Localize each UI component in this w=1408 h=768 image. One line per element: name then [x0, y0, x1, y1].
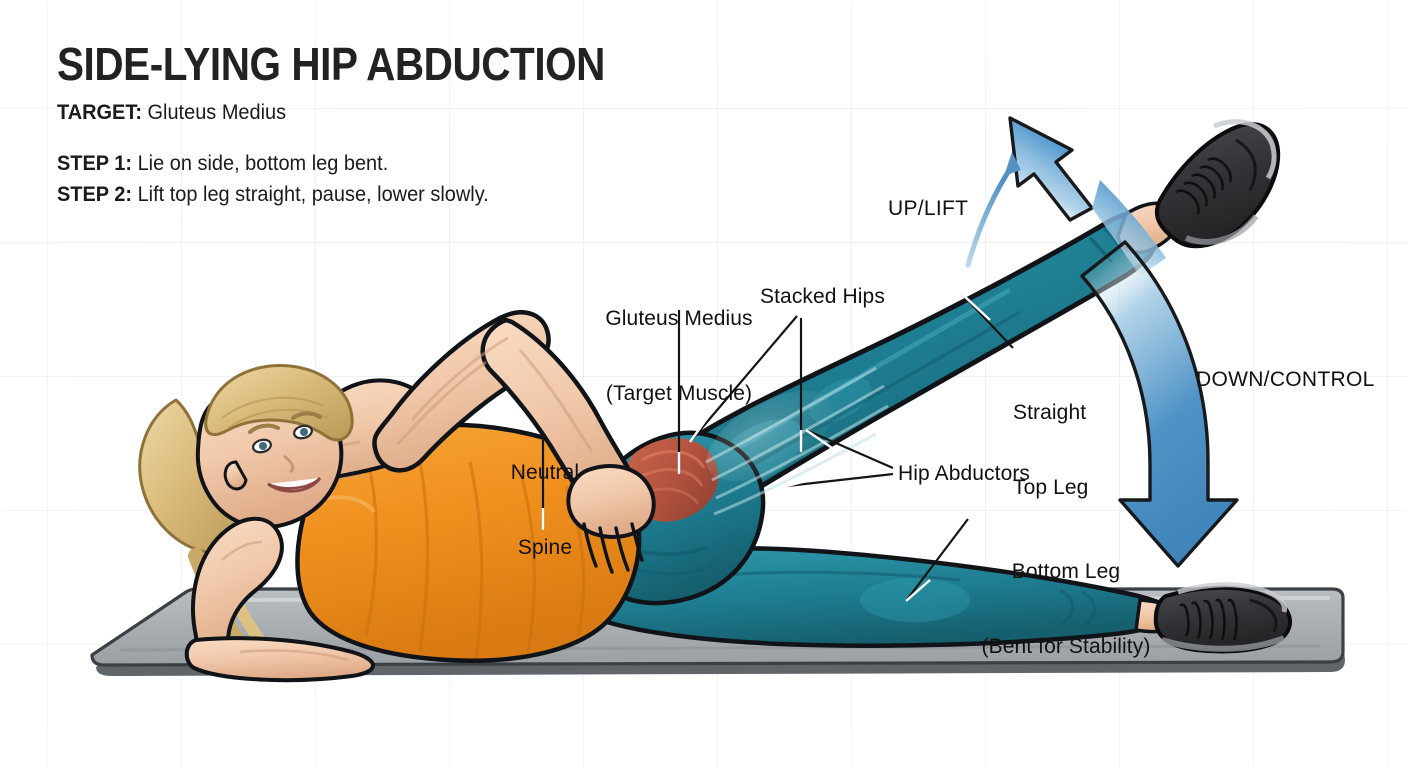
label-bottom-leg: Bottom Leg (Bent for Stability) [966, 509, 1166, 709]
label-gluteus-medius-line1: Gluteus Medius [594, 306, 764, 331]
steps-list: STEP 1: Lie on side, bottom leg bent. ST… [57, 148, 757, 210]
label-neutral-spine-line1: Neutral [500, 460, 590, 485]
header-block: SIDE-LYING HIP ABDUCTION TARGET: Gluteus… [57, 38, 757, 210]
label-straight-top-leg-line1: Straight [1013, 400, 1088, 425]
label-down-control: DOWN/CONTROL [1196, 367, 1375, 392]
exercise-infographic: SIDE-LYING HIP ABDUCTION TARGET: Gluteus… [0, 0, 1408, 768]
label-gluteus-medius-line2: (Target Muscle) [594, 381, 764, 406]
target-value: Gluteus Medius [148, 101, 287, 124]
step-1: STEP 1: Lie on side, bottom leg bent. [57, 148, 722, 179]
label-bottom-leg-line2: (Bent for Stability) [966, 634, 1166, 659]
label-neutral-spine: Neutral Spine [500, 410, 590, 610]
step-2-label: STEP 2: [57, 183, 132, 206]
bottom-shoe [1156, 585, 1290, 652]
label-up-lift: UP/LIFT [888, 196, 968, 221]
label-bottom-leg-line1: Bottom Leg [966, 559, 1166, 584]
step-2: STEP 2: Lift top leg straight, pause, lo… [57, 179, 722, 210]
label-gluteus-medius: Gluteus Medius (Target Muscle) [594, 256, 764, 456]
target-line: TARGET: Gluteus Medius [57, 100, 722, 126]
step-1-text: Lie on side, bottom leg bent. [138, 152, 389, 175]
target-label: TARGET: [57, 101, 142, 124]
page-title: SIDE-LYING HIP ABDUCTION [57, 38, 673, 90]
step-1-label: STEP 1: [57, 152, 132, 175]
label-neutral-spine-line2: Spine [500, 535, 590, 560]
label-hip-abductors: Hip Abductors [898, 461, 1030, 486]
label-stacked-hips: Stacked Hips [760, 284, 885, 309]
top-shoe [1157, 122, 1278, 246]
step-2-text: Lift top leg straight, pause, lower slow… [138, 183, 489, 206]
